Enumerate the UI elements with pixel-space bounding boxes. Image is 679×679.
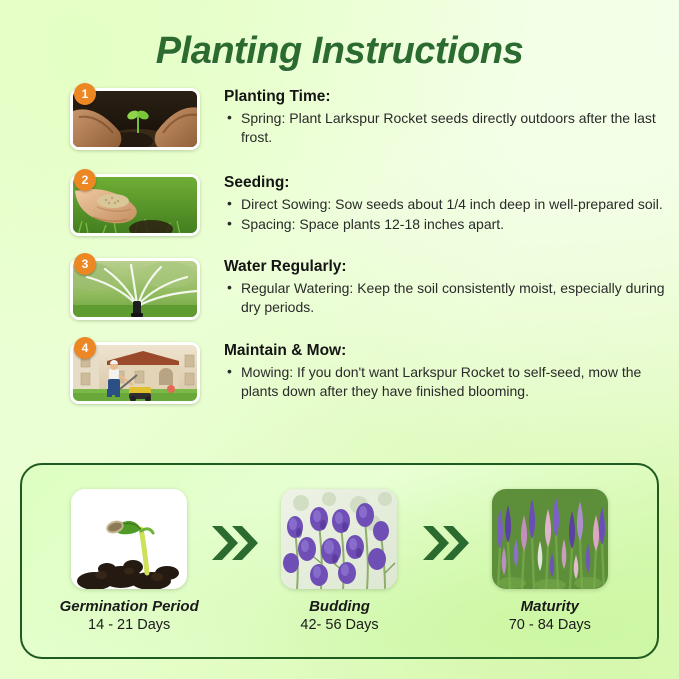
double-chevron-right-icon <box>206 520 262 566</box>
stage-duration: 42- 56 Days <box>262 617 416 633</box>
page-title: Planting Instructions <box>0 30 679 73</box>
step-heading: Water Regularly: <box>224 258 670 276</box>
stage-label: Budding <box>262 598 416 615</box>
stage-label: Maturity <box>473 598 627 615</box>
planting-instructions-infographic: Planting Instructions 1 <box>0 0 679 679</box>
timeline-stage-maturity: Maturity 70 - 84 Days <box>473 489 627 633</box>
step-item: 1 <box>70 88 670 150</box>
step-heading: Maintain & Mow: <box>224 342 670 360</box>
stage-label: Germination Period <box>52 598 206 615</box>
double-chevron-right-icon <box>417 520 473 566</box>
step-number-badge: 1 <box>74 83 96 105</box>
step-heading: Seeding: <box>224 174 670 192</box>
step-heading: Planting Time: <box>224 88 670 106</box>
step-number-badge: 2 <box>74 169 96 191</box>
bullet-item: Mowing: If you don't want Larkspur Rocke… <box>224 363 670 400</box>
step-item: 2 <box>70 174 670 236</box>
step-number-badge: 3 <box>74 253 96 275</box>
purple-larkspur-flower-buds-photo <box>281 489 397 589</box>
step-text: Planting Time: Spring: Plant Larkspur Ro… <box>200 88 670 147</box>
step-bullets: Mowing: If you don't want Larkspur Rocke… <box>224 363 670 400</box>
stage-duration: 70 - 84 Days <box>473 617 627 633</box>
bullet-item: Regular Watering: Keep the soil consiste… <box>224 279 670 316</box>
timeline-stage-germination: Germination Period 14 - 21 Days <box>52 489 206 633</box>
growth-timeline-panel: Germination Period 14 - 21 Days <box>20 463 659 659</box>
step-text: Seeding: Direct Sowing: Sow seeds about … <box>200 174 670 234</box>
step-thumbnail-wrap: 4 <box>70 342 200 404</box>
step-thumbnail-wrap: 1 <box>70 88 200 150</box>
sprouting-seed-in-dark-soil-photo <box>71 489 187 589</box>
step-number-badge: 4 <box>74 337 96 359</box>
step-bullets: Direct Sowing: Sow seeds about 1/4 inch … <box>224 195 670 233</box>
steps-list: 1 <box>70 88 670 404</box>
step-bullets: Regular Watering: Keep the soil consiste… <box>224 279 670 316</box>
step-text: Water Regularly: Regular Watering: Keep … <box>200 258 670 317</box>
field-of-blooming-larkspur-flowers-photo <box>492 489 608 589</box>
bullet-item: Spacing: Space plants 12-18 inches apart… <box>224 215 670 234</box>
bullet-item: Spring: Plant Larkspur Rocket seeds dire… <box>224 109 670 146</box>
step-thumbnail-wrap: 3 <box>70 258 200 320</box>
step-item: 4 <box>70 342 670 404</box>
stage-duration: 14 - 21 Days <box>52 617 206 633</box>
timeline-stage-budding: Budding 42- 56 Days <box>262 489 416 633</box>
step-item: 3 <box>70 258 670 320</box>
step-bullets: Spring: Plant Larkspur Rocket seeds dire… <box>224 109 670 146</box>
step-thumbnail-wrap: 2 <box>70 174 200 236</box>
step-text: Maintain & Mow: Mowing: If you don't wan… <box>200 342 670 401</box>
bullet-item: Direct Sowing: Sow seeds about 1/4 inch … <box>224 195 670 214</box>
